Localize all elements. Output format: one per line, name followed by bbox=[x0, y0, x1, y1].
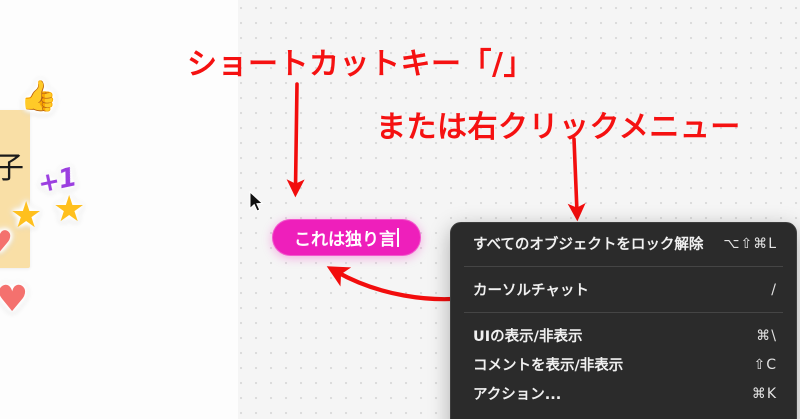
menu-item-shortcut: ⌥⇧⌘L bbox=[723, 236, 777, 252]
menu-item-label: すべてのオブジェクトをロック解除 bbox=[473, 233, 703, 254]
menu-item-toggle-ui[interactable]: UIの表示/非表示 ⌘\ bbox=[451, 321, 796, 350]
menu-item-shortcut: ⌘K bbox=[752, 386, 777, 402]
menu-divider bbox=[464, 312, 783, 313]
screenshot-root: 子 👍 +1 ★ ★ ♥ ♥ ショートカットキー「/」 または右クリックメニュー bbox=[0, 0, 800, 419]
menu-item-shortcut: / bbox=[771, 282, 777, 298]
sticky-note-text: 子 bbox=[0, 154, 24, 184]
heart-icon[interactable]: ♥ bbox=[0, 282, 28, 318]
menu-item-label: コメントを表示/非表示 bbox=[473, 354, 623, 375]
menu-item-unlock-all-objects[interactable]: すべてのオブジェクトをロック解除 ⌥⇧⌘L bbox=[451, 229, 796, 258]
menu-item-cursor-chat[interactable]: カーソルチャット / bbox=[451, 275, 796, 304]
heart-icon[interactable]: ♥ bbox=[0, 228, 13, 258]
text-caret bbox=[397, 228, 399, 247]
cursor-chat-bubble[interactable]: これは独り言 bbox=[272, 219, 421, 256]
cursor-chat-text: これは独り言 bbox=[294, 225, 396, 250]
menu-item-actions[interactable]: アクション... ⌘K bbox=[451, 379, 796, 408]
context-menu[interactable]: すべてのオブジェクトをロック解除 ⌥⇧⌘L カーソルチャット / UIの表示/非… bbox=[450, 222, 797, 419]
annotation-shortcut-key: ショートカットキー「/」 bbox=[187, 39, 534, 83]
menu-item-shortcut: ⌘\ bbox=[756, 328, 777, 344]
menu-item-label: アクション... bbox=[473, 383, 561, 404]
annotation-right-click-menu: または右クリックメニュー bbox=[376, 102, 741, 146]
menu-divider bbox=[464, 266, 783, 267]
menu-item-label: カーソルチャット bbox=[473, 279, 589, 300]
mouse-cursor-icon bbox=[249, 191, 265, 213]
menu-item-toggle-comments[interactable]: コメントを表示/非表示 ⇧C bbox=[451, 350, 796, 379]
star-icon[interactable]: ★ bbox=[53, 192, 85, 228]
menu-item-label: UIの表示/非表示 bbox=[473, 325, 582, 346]
menu-item-shortcut: ⇧C bbox=[753, 357, 777, 373]
star-icon[interactable]: ★ bbox=[10, 198, 42, 234]
thumbs-up-icon[interactable]: 👍 bbox=[20, 82, 57, 112]
